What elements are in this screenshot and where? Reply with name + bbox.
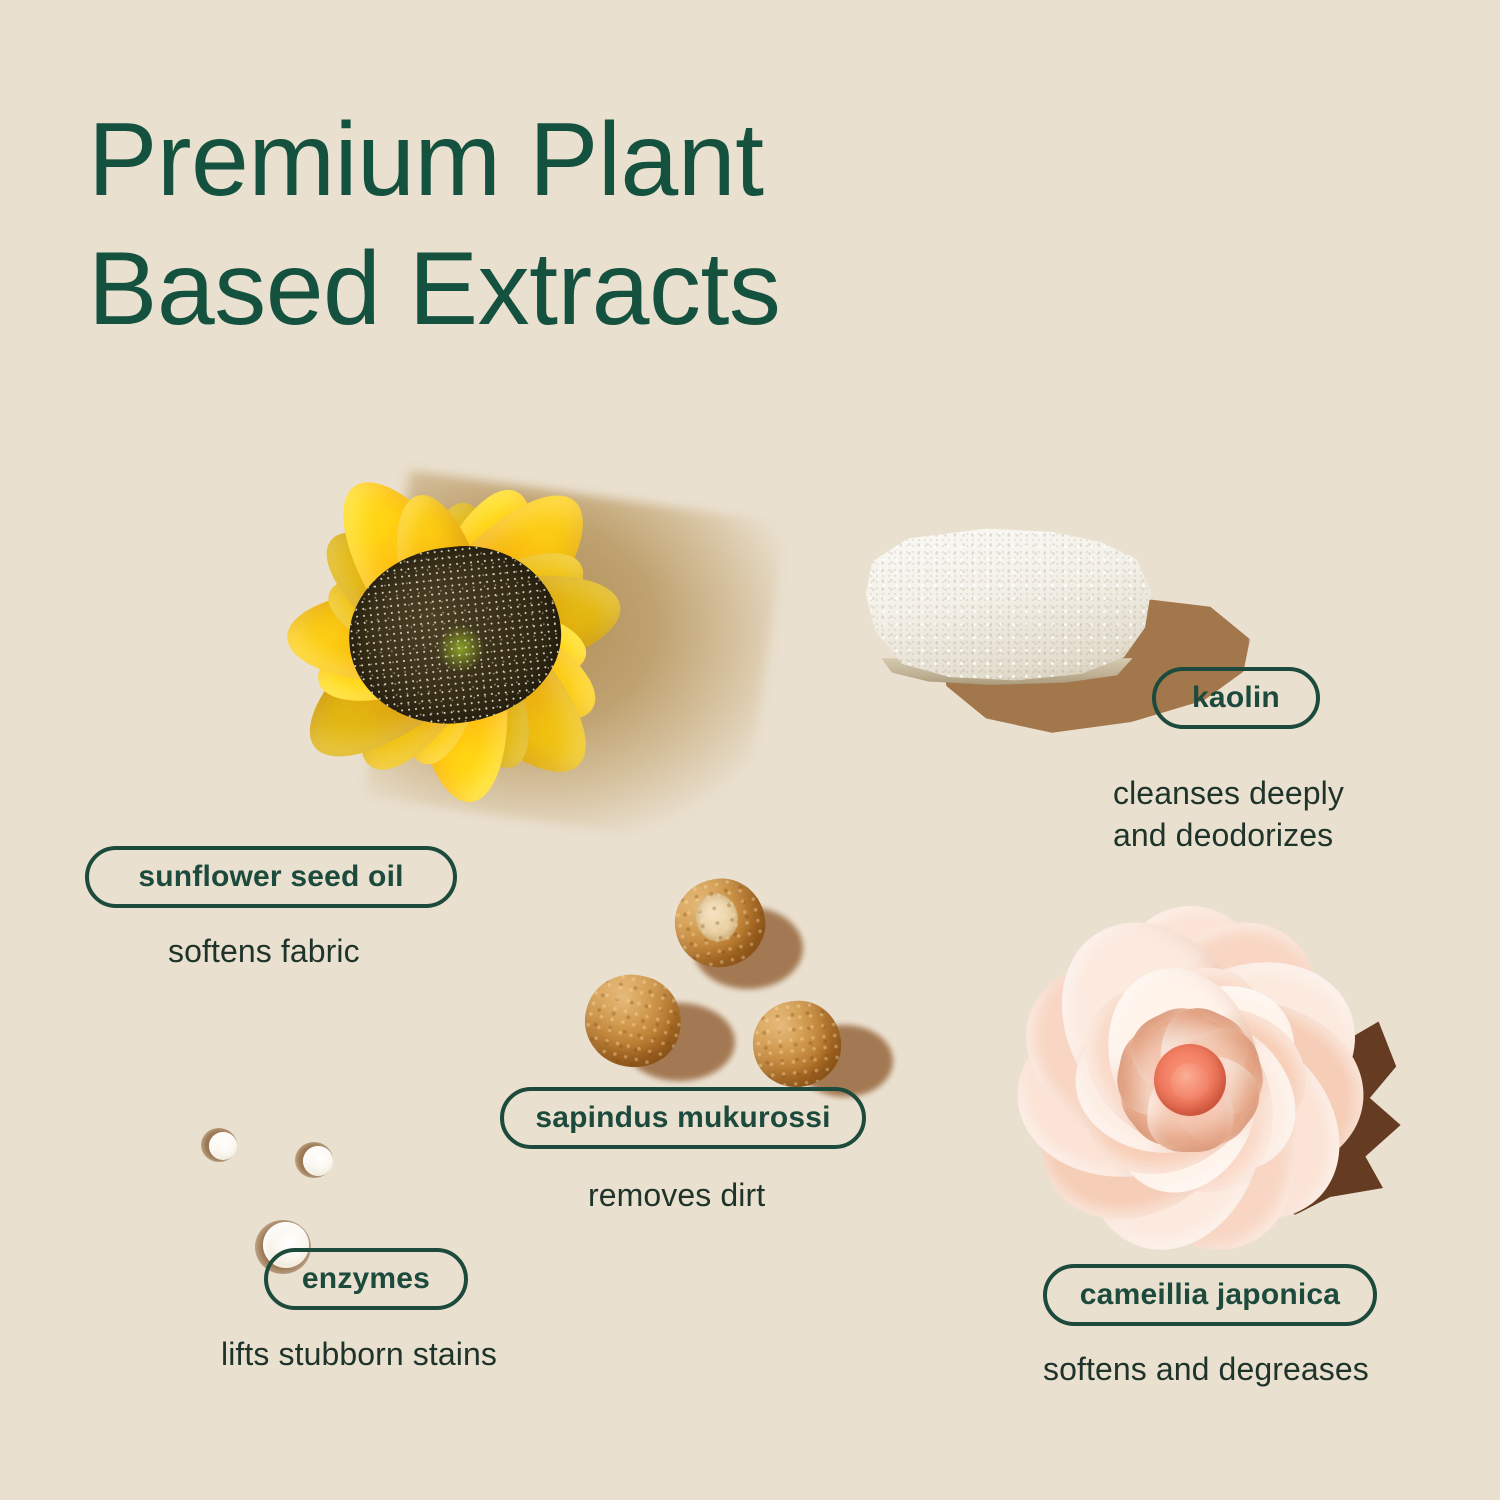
ingredient-pill-sunflower-seed-oil[interactable]: sunflower seed oil	[85, 846, 457, 908]
ingredient-caption-kaolin: cleanses deeply and deodorizes	[1113, 772, 1443, 856]
sunflower-seed-head	[340, 536, 569, 733]
soap-nut	[667, 871, 773, 976]
ingredient-pill-cameillia-japonica[interactable]: cameillia japonica	[1043, 1264, 1377, 1326]
soap-nut-hilum	[691, 890, 742, 946]
enzyme-crystal	[303, 1146, 333, 1176]
kaolin-rock-photo	[840, 500, 1280, 780]
camellia-center	[1154, 1044, 1226, 1116]
soap-nuts-photo	[575, 875, 895, 1105]
enzyme-crystal	[209, 1132, 237, 1160]
ingredient-caption-sapindus-mukurossi: removes dirt	[588, 1174, 918, 1216]
sunflower-photo	[195, 400, 715, 870]
ingredient-pill-enzymes[interactable]: enzymes	[264, 1248, 468, 1310]
ingredient-caption-sunflower-seed-oil: softens fabric	[168, 930, 588, 972]
page-title: Premium Plant Based Extracts	[88, 96, 988, 354]
ingredient-pill-kaolin[interactable]: kaolin	[1152, 667, 1320, 729]
infographic-canvas: Premium Plant Based Extracts	[0, 0, 1500, 1500]
camellia-flower-photo	[960, 880, 1420, 1280]
soap-nut	[749, 997, 846, 1092]
ingredient-caption-cameillia-japonica: softens and degreases	[1043, 1348, 1463, 1390]
ingredient-caption-enzymes: lifts stubborn stains	[221, 1333, 621, 1375]
ingredient-pill-sapindus-mukurossi[interactable]: sapindus mukurossi	[500, 1087, 866, 1149]
